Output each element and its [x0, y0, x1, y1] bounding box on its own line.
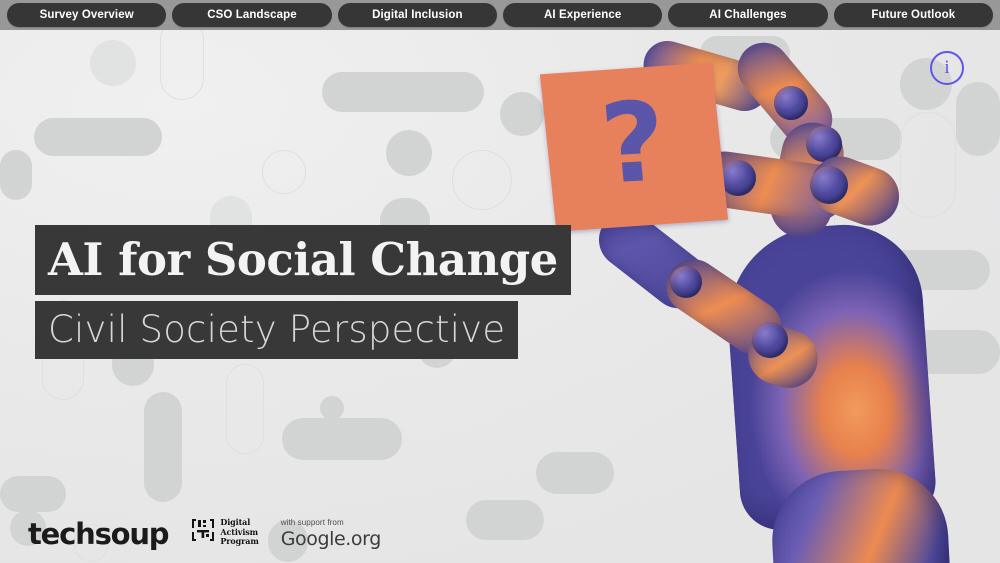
info-icon[interactable]: i — [930, 51, 964, 85]
support-prefix-label: with support from — [281, 519, 381, 527]
page-subtitle: Civil Society Perspective — [35, 301, 518, 359]
page-title: AI for Social Change — [35, 225, 571, 295]
google-org-logo: with support from Google.org — [281, 519, 381, 551]
robot-knuckle-1 — [774, 86, 808, 120]
question-mark-icon: ? — [597, 87, 670, 200]
slide-root: ? AI for Social Change Civil Society Per… — [0, 0, 1000, 563]
dap-logo-text: Digital Activism Program — [220, 518, 258, 546]
tab-digital-inclusion[interactable]: Digital Inclusion — [338, 3, 497, 27]
hero-artwork-robot-hand: ? — [520, 30, 1000, 563]
tab-cso-landscape[interactable]: CSO Landscape — [172, 3, 331, 27]
techsoup-logo: techsoup — [28, 520, 168, 551]
info-icon-glyph: i — [944, 58, 949, 77]
google-org-wordmark: Google.org — [281, 530, 381, 549]
dap-line-3: Program — [220, 536, 258, 546]
robot-knuckle-4 — [810, 166, 848, 204]
footer-logos: techsoup — [28, 517, 381, 551]
tab-survey-overview[interactable]: Survey Overview — [7, 3, 166, 27]
robot-knuckle-5 — [670, 266, 702, 298]
robot-knuckle-6 — [752, 322, 788, 358]
navigation-tab-bar: Survey OverviewCSO LandscapeDigital Incl… — [0, 0, 1000, 30]
digital-activism-program-logo: Digital Activism Program — [190, 517, 258, 551]
tab-ai-challenges[interactable]: AI Challenges — [668, 3, 827, 27]
question-mark-note: ? — [540, 62, 728, 231]
dap-mark-icon — [190, 517, 216, 548]
robot-knuckle-3 — [720, 160, 756, 196]
hero-title-block: AI for Social Change Civil Society Persp… — [35, 225, 571, 359]
tab-ai-experience[interactable]: AI Experience — [503, 3, 662, 27]
tab-future-outlook[interactable]: Future Outlook — [834, 3, 993, 27]
